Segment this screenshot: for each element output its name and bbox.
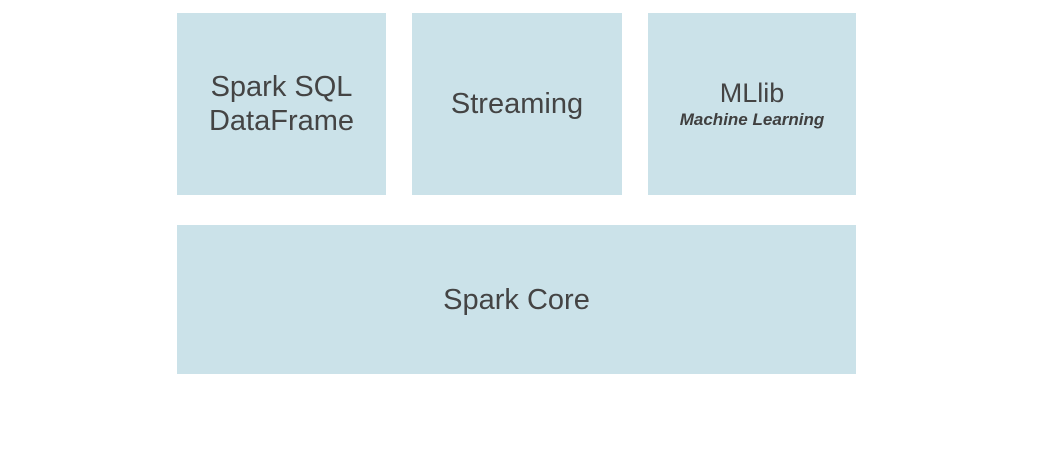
node-mllib-sublabel: Machine Learning <box>680 109 825 131</box>
node-spark-sql[interactable]: Spark SQL DataFrame <box>177 13 386 195</box>
node-spark-sql-label: Spark SQL DataFrame <box>209 70 354 138</box>
node-spark-core[interactable]: Spark Core <box>177 225 856 374</box>
node-mllib[interactable]: MLlib Machine Learning <box>648 13 856 195</box>
diagram-canvas: Spark SQL DataFrame Streaming MLlib Mach… <box>0 0 1053 457</box>
node-streaming[interactable]: Streaming <box>412 13 622 195</box>
node-streaming-label: Streaming <box>451 87 583 121</box>
node-spark-core-label: Spark Core <box>443 283 590 317</box>
node-mllib-label: MLlib <box>720 78 785 109</box>
